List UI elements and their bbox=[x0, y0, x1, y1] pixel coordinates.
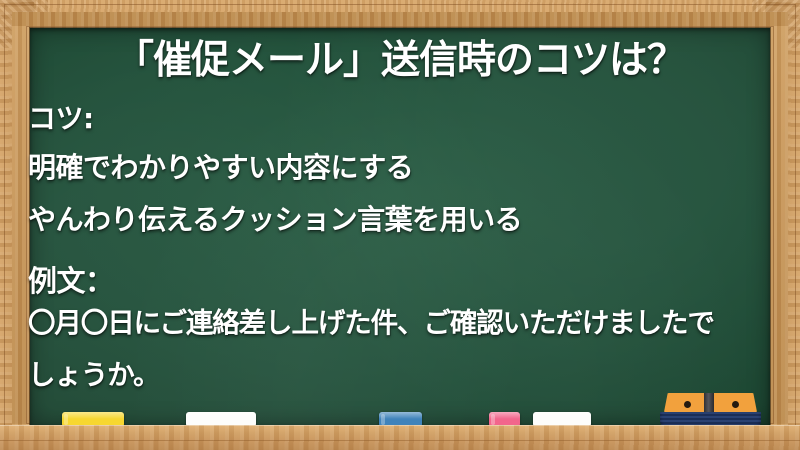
chalk-ledge-seam bbox=[0, 440, 800, 441]
eraser-strap bbox=[704, 393, 714, 413]
tips-line-2: やんわり伝えるクッション言葉を用いる bbox=[28, 205, 522, 235]
tips-section-label: コツ: bbox=[28, 104, 94, 134]
chalk-ledge bbox=[0, 425, 800, 450]
chalkboard-slide: 「催促メール」送信時のコツは？ コツ: 明確でわかりやすい内容にする やんわり伝… bbox=[0, 0, 800, 450]
blackboard-eraser-icon[interactable] bbox=[660, 393, 761, 428]
tips-line-1: 明確でわかりやすい内容にする bbox=[28, 153, 413, 183]
example-line-2: しょうか。 bbox=[28, 360, 159, 390]
eraser-rivet-left bbox=[684, 401, 691, 408]
slide-title: 「催促メール」送信時のコツは？ bbox=[30, 38, 770, 84]
eraser-rivet-right bbox=[732, 401, 739, 408]
example-section-label: 例文： bbox=[28, 266, 114, 296]
example-line-1: 〇月〇日にご連絡差し上げた件、ご確認いただけましたで bbox=[28, 308, 714, 338]
